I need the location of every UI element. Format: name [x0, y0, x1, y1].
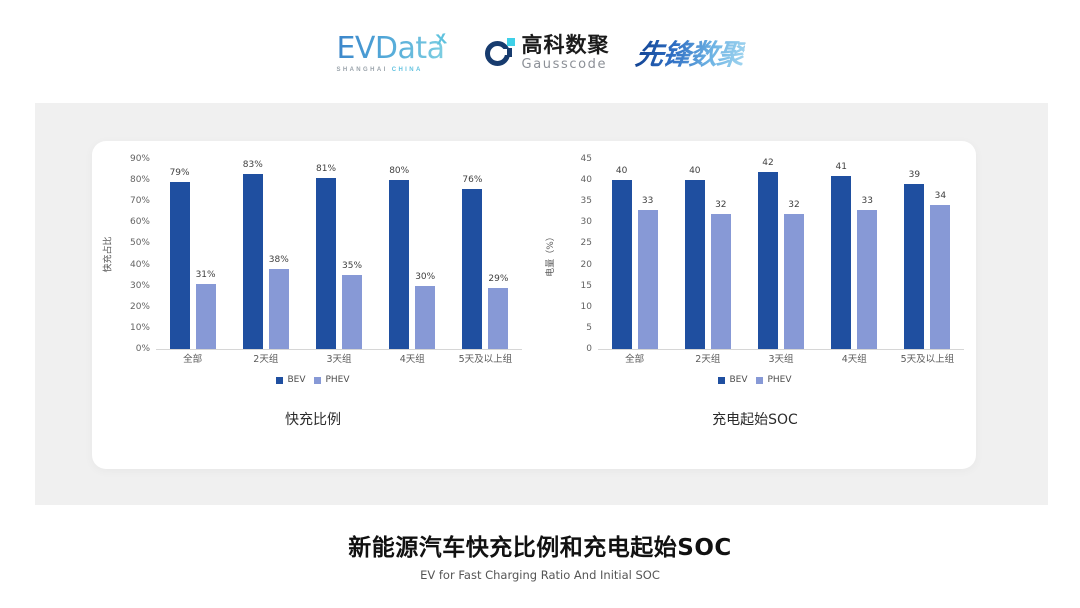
chart-1-ytick: 45: [581, 154, 592, 164]
bar-value-label: 79%: [170, 168, 190, 178]
bar-value-label: 42: [762, 158, 773, 168]
chart-1-ytick: 20: [581, 260, 592, 270]
chart-0-bar-groups: 79%31%83%38%81%35%80%30%76%29%: [156, 159, 522, 349]
chart-1-ytick: 15: [581, 281, 592, 291]
chart-1-ylabel: 电量（%）: [542, 159, 556, 349]
evdata-x-icon: x: [434, 27, 448, 50]
logo-bar: EVData x SHANGHAI CHINA 高科数聚 Gausscode 先…: [0, 22, 1080, 84]
legend-swatch-bev-icon: [718, 377, 725, 384]
chart-1-ytick: 40: [581, 175, 592, 185]
bar-group: 81%35%: [302, 159, 375, 349]
chart-1-title: 充电起始SOC: [534, 409, 976, 429]
legend-label-bev: BEV: [287, 375, 305, 385]
bar-value-label: 41: [835, 162, 846, 172]
bar-phev[interactable]: 38%: [269, 269, 289, 349]
chart-0-ylabel: 快充占比: [100, 159, 114, 349]
gausscode-cn-name: 高科数聚: [522, 35, 610, 56]
bar-value-label: 80%: [389, 166, 409, 176]
bar-phev[interactable]: 34: [930, 205, 950, 349]
legend-swatch-bev-icon: [276, 377, 283, 384]
chart-0-ytick: 70%: [130, 196, 150, 206]
bar-bev[interactable]: 81%: [316, 178, 336, 349]
legend-label-bev: BEV: [729, 375, 747, 385]
legend-swatch-phev-icon: [756, 377, 763, 384]
evdata-tagline: SHANGHAI CHINA: [336, 67, 444, 73]
chart-1-ytick: 10: [581, 302, 592, 312]
bar-group: 3934: [891, 159, 964, 349]
footer-title-cn: 新能源汽车快充比例和充电起始SOC: [0, 528, 1080, 562]
bar-group: 4232: [744, 159, 817, 349]
chart-0-ytick: 80%: [130, 175, 150, 185]
bar-bev[interactable]: 40: [685, 180, 705, 349]
bar-group: 4032: [671, 159, 744, 349]
bar-group: 76%29%: [449, 159, 522, 349]
chart-0-plot-area: 79%31%83%38%81%35%80%30%76%29%: [156, 159, 522, 350]
bar-group: 79%31%: [156, 159, 229, 349]
gausscode-en-name: Gausscode: [522, 58, 610, 71]
chart-1-xlabel: 3天组: [744, 351, 817, 369]
bar-value-label: 39: [909, 170, 920, 180]
bar-value-label: 38%: [269, 255, 289, 265]
chart-0-xlabel: 全部: [156, 351, 229, 369]
bar-bev[interactable]: 40: [612, 180, 632, 349]
chart-1-ytick: 0: [586, 344, 592, 354]
bar-bev[interactable]: 42: [758, 172, 778, 349]
bar-value-label: 30%: [415, 272, 435, 282]
chart-0-yticks: 0%10%20%30%40%50%60%70%80%90%: [114, 159, 154, 349]
chart-1-ytick: 5: [586, 323, 592, 333]
chart-0-ytick: 40%: [130, 260, 150, 270]
legend-label-phev: PHEV: [767, 375, 791, 385]
legend-item-bev: BEV: [718, 375, 747, 385]
legend-item-bev: BEV: [276, 375, 305, 385]
bar-phev[interactable]: 29%: [488, 288, 508, 349]
chart-0-xlabels: 全部2天组3天组4天组5天及以上组: [156, 351, 522, 369]
bar-phev[interactable]: 35%: [342, 275, 362, 349]
footer: 新能源汽车快充比例和充电起始SOC EV for Fast Charging R…: [0, 528, 1080, 582]
bar-phev[interactable]: 30%: [415, 286, 435, 349]
bar-phev[interactable]: 32: [711, 214, 731, 349]
bar-value-label: 32: [788, 200, 799, 210]
chart-0-ytick: 20%: [130, 302, 150, 312]
bar-group: 83%38%: [229, 159, 302, 349]
legend-item-phev: PHEV: [314, 375, 349, 385]
chart-0-ytick: 90%: [130, 154, 150, 164]
chart-1-bar-groups: 40334032423241333934: [598, 159, 964, 349]
bar-value-label: 33: [642, 196, 653, 206]
bar-value-label: 33: [861, 196, 872, 206]
bar-bev[interactable]: 79%: [170, 182, 190, 349]
chart-1-legend: BEV PHEV: [540, 375, 970, 385]
evdata-wordmark: EVData: [336, 31, 444, 66]
logo-xianfeng: 先锋数聚: [636, 33, 744, 73]
bar-phev[interactable]: 33: [857, 210, 877, 349]
legend-label-phev: PHEV: [325, 375, 349, 385]
bar-value-label: 34: [935, 191, 946, 201]
bar-phev[interactable]: 33: [638, 210, 658, 349]
bar-phev[interactable]: 32: [784, 214, 804, 349]
chart-initial-soc: 电量（%） 051015202530354045 403340324232413…: [534, 141, 976, 469]
bar-bev[interactable]: 83%: [243, 174, 263, 349]
chart-0-xlabel: 5天及以上组: [449, 351, 522, 369]
bar-group: 80%30%: [376, 159, 449, 349]
chart-1-xlabel: 全部: [598, 351, 671, 369]
charts-container: 快充占比 0%10%20%30%40%50%60%70%80%90% 79%31…: [92, 141, 976, 469]
bar-bev[interactable]: 39: [904, 184, 924, 349]
bar-value-label: 31%: [196, 270, 216, 280]
chart-1-plot-area: 40334032423241333934: [598, 159, 964, 350]
chart-0-title: 快充比例: [92, 409, 534, 429]
chart-1-xlabel: 4天组: [818, 351, 891, 369]
evdata-tagline-city: SHANGHAI: [336, 67, 387, 73]
bar-value-label: 29%: [488, 274, 508, 284]
chart-1-ytick: 35: [581, 196, 592, 206]
chart-0-ytick: 50%: [130, 238, 150, 248]
chart-1-xlabel: 2天组: [671, 351, 744, 369]
bar-bev[interactable]: 76%: [462, 189, 482, 349]
bar-value-label: 32: [715, 200, 726, 210]
bar-value-label: 76%: [462, 175, 482, 185]
chart-1-xlabels: 全部2天组3天组4天组5天及以上组: [598, 351, 964, 369]
legend-swatch-phev-icon: [314, 377, 321, 384]
bar-value-label: 40: [689, 166, 700, 176]
chart-0-xlabel: 3天组: [302, 351, 375, 369]
evdata-tagline-country: CHINA: [392, 67, 423, 73]
chart-fast-charging-ratio: 快充占比 0%10%20%30%40%50%60%70%80%90% 79%31…: [92, 141, 534, 469]
chart-1-xlabel: 5天及以上组: [891, 351, 964, 369]
chart-1-yticks: 051015202530354045: [556, 159, 596, 349]
chart-0-ytick: 60%: [130, 217, 150, 227]
chart-0-xlabel: 4天组: [376, 351, 449, 369]
bar-group: 4133: [818, 159, 891, 349]
bar-bev[interactable]: 41: [831, 176, 851, 349]
chart-0-legend: BEV PHEV: [98, 375, 528, 385]
chart-1-ytick: 30: [581, 217, 592, 227]
footer-title-en: EV for Fast Charging Ratio And Initial S…: [0, 568, 1080, 582]
bar-value-label: 83%: [243, 160, 263, 170]
chart-1-ytick: 25: [581, 238, 592, 248]
chart-0-xlabel: 2天组: [229, 351, 302, 369]
gausscode-mark-icon: [485, 38, 515, 68]
chart-0-ytick: 30%: [130, 281, 150, 291]
xianfeng-wordmark: 先锋数聚: [633, 33, 747, 73]
bar-phev[interactable]: 31%: [196, 284, 216, 349]
logo-gausscode: 高科数聚 Gausscode: [485, 35, 610, 71]
bar-value-label: 81%: [316, 164, 336, 174]
bar-bev[interactable]: 80%: [389, 180, 409, 349]
legend-item-phev: PHEV: [756, 375, 791, 385]
chart-0-ytick: 0%: [136, 344, 150, 354]
bar-value-label: 35%: [342, 261, 362, 271]
chart-0-ytick: 10%: [130, 323, 150, 333]
bar-value-label: 40: [616, 166, 627, 176]
bar-group: 4033: [598, 159, 671, 349]
logo-evdata: EVData x SHANGHAI CHINA: [336, 34, 458, 73]
